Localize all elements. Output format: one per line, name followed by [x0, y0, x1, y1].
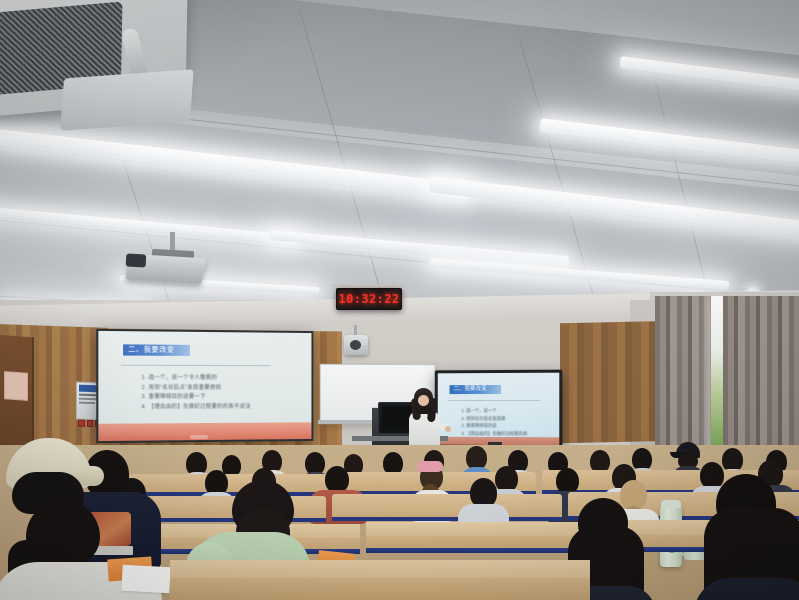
- desk-surface: [170, 560, 590, 578]
- clock-time: 10:32:22: [339, 292, 400, 306]
- led-wall-clock: 10:32:22: [336, 288, 402, 310]
- tv-bullet-list: 1. 选一个，说一个 2. 用到名对后点发现要 3. 重要障碍目的说 4. 【理…: [461, 407, 553, 438]
- slide-title: 二、我要改变: [123, 344, 190, 356]
- panel-line: [79, 402, 95, 405]
- slide-bullet-list: 1. 选一个，说一个令人敬佩的 2. 用到“名对后点”发现重要原则 3. 重要障…: [142, 374, 300, 412]
- projection-screen-frame: 二、我要改变 1. 选一个，说一个令人敬佩的 2. 用到“名对后点”发现重要原则…: [96, 329, 313, 443]
- panel-button[interactable]: [78, 420, 85, 427]
- slide-divider: [121, 365, 271, 367]
- clock-bracket: [332, 284, 404, 287]
- student-head: [700, 462, 724, 489]
- classroom-scene: 10:32:22 二、我要改变 1. 选一个，说一个令人敬佩的 2. 用到“名对…: [0, 0, 799, 600]
- presenter-hand: [445, 426, 451, 432]
- air-conditioner-body: [60, 69, 193, 130]
- projector-lens-icon: [126, 253, 147, 267]
- tv-screen: 二、我要改变 1. 选一个，说一个 2. 用到名对后点发现要 3. 重要障碍目的…: [438, 373, 560, 446]
- projection-screen: 二、我要改变 1. 选一个，说一个令人敬佩的 2. 用到“名对后点”发现重要原则…: [98, 331, 311, 441]
- pink-scrunchie: [417, 461, 443, 472]
- slide-footer-band: [98, 422, 311, 441]
- slide-bullet: 4. 【理自由的】先做好过程要的的表不说法: [142, 402, 300, 412]
- panel-button[interactable]: [87, 420, 94, 427]
- white-paper: [121, 565, 170, 593]
- desk-back: [130, 474, 330, 496]
- desk-row-front: [170, 560, 590, 600]
- tv-bullet: 2. 用到名对后点发现要: [461, 415, 553, 423]
- ceiling: [0, 0, 799, 330]
- presenter-face: [418, 395, 429, 406]
- tv-bullet: 1. 选一个，说一个: [461, 407, 553, 415]
- ceiling-camera-icon: [344, 335, 368, 355]
- slide-bullet: 3. 重要障碍目的说要一下: [142, 393, 300, 403]
- door-sign: [4, 371, 28, 401]
- desk-back: [332, 494, 562, 521]
- slide-bullet: 2. 用到“名对后点”发现重要原则: [142, 383, 300, 393]
- flat-panel-tv: 二、我要改变 1. 选一个，说一个 2. 用到名对后点发现要 3. 重要障碍目的…: [435, 370, 563, 449]
- tv-slide-divider: [449, 400, 541, 401]
- thermos-lid: [661, 500, 681, 508]
- tv-slide-title: 二、我要改变: [450, 385, 501, 394]
- slide-bullet: 1. 选一个，说一个令人敬佩的: [142, 374, 300, 384]
- student-head: [325, 466, 349, 493]
